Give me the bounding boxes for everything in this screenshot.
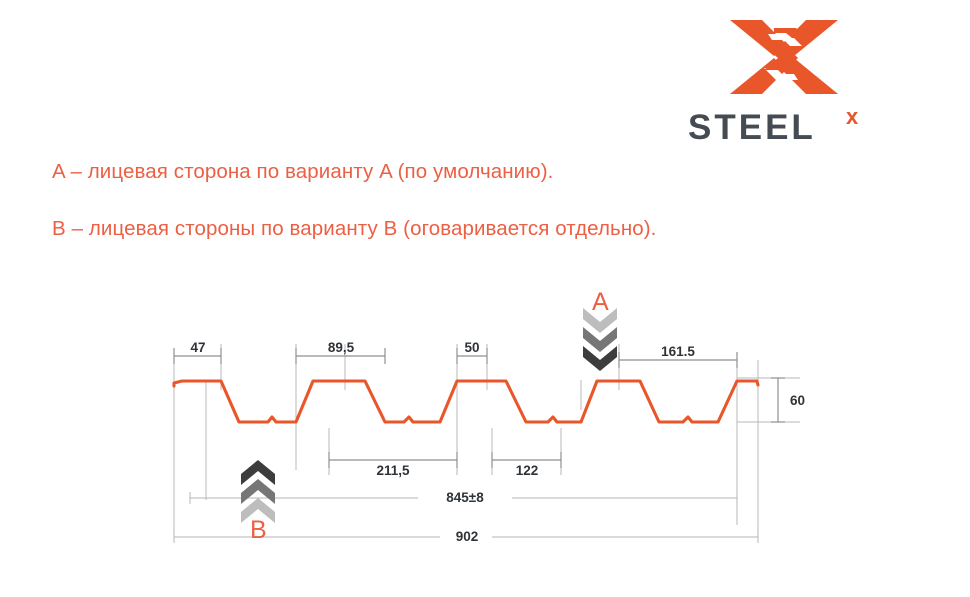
brand-logo: STEEL x	[688, 18, 878, 140]
caption-variant-a: A – лицевая сторона по варианту A (по ум…	[52, 160, 553, 184]
dim-60-label: 60	[790, 393, 820, 408]
dim-50-label: 50	[450, 340, 494, 355]
dim-845-label: 845±8	[420, 490, 510, 505]
dim-89-5-label: 89,5	[298, 340, 384, 355]
profile-technical-drawing: 47 89,5 50 161.5 211,5 122 845±8 902 60 …	[0, 260, 970, 580]
marker-b-letter: B	[250, 516, 267, 545]
height-dimension-line	[771, 378, 785, 422]
corrugated-profile-outline	[174, 381, 758, 422]
steelx-x-logo-icon	[728, 18, 840, 96]
caption-variant-b: B – лицевая стороны по варианту B (огова…	[52, 217, 656, 241]
dim-161-5-label: 161.5	[627, 344, 729, 359]
dim-47-label: 47	[177, 340, 219, 355]
dim-122-label: 122	[493, 463, 561, 478]
dim-902-label: 902	[442, 529, 492, 544]
dim-211-5-label: 211,5	[330, 463, 456, 478]
marker-a-letter: A	[592, 288, 609, 317]
marker-a-chevrons	[583, 308, 617, 371]
marker-b-chevrons	[241, 460, 275, 523]
page-root: STEEL x A – лицевая сторона по варианту …	[0, 0, 970, 597]
logo-superscript-x: x	[846, 106, 858, 128]
